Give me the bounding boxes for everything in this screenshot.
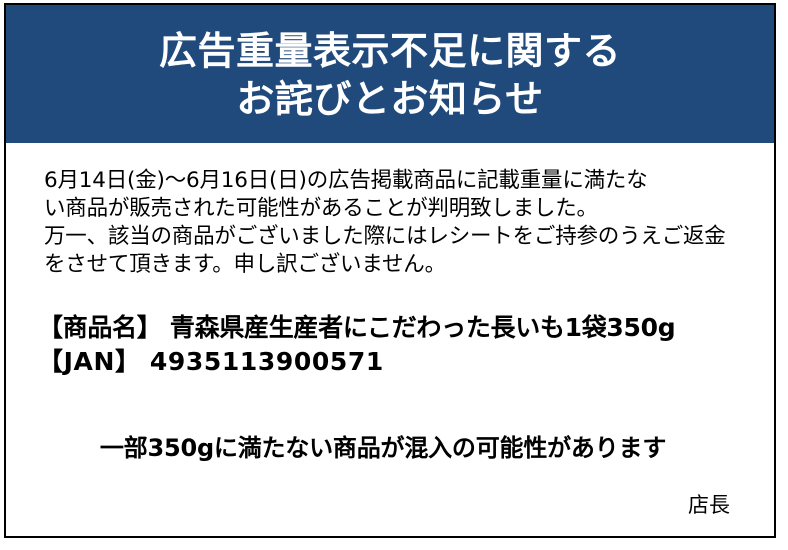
sheet-body: 6月14日(金)〜6月16日(日)の広告掲載商品に記載重量に満たな い商品が販売…: [6, 143, 774, 536]
weight-warning-text: 一部350gに満たない商品が混入の可能性があります: [6, 428, 774, 463]
product-name-label: 【商品名】: [38, 313, 162, 342]
apology-paragraph: 6月14日(金)〜6月16日(日)の広告掲載商品に記載重量に満たな い商品が販売…: [44, 167, 744, 279]
paragraph-line-2: い商品が販売された可能性があることが判明致しました。: [44, 195, 744, 223]
paragraph-line-3: 万一、該当の商品がございました際にはレシートをご持参のうえご返金: [44, 223, 744, 251]
paragraph-line-1: 6月14日(金)〜6月16日(日)の広告掲載商品に記載重量に満たな: [44, 167, 744, 195]
jan-code-label: 【JAN】: [38, 347, 141, 376]
header-title-line-1: 広告重量表示不足に関する: [159, 27, 621, 75]
header-banner: 広告重量表示不足に関する お詫びとお知らせ: [6, 5, 774, 143]
store-manager-signature: 店長: [688, 489, 730, 519]
jan-code-row: 【JAN】 4935113900571: [38, 345, 758, 379]
product-details: 【商品名】 青森県産生産者にこだわった長いも1袋350g 【JAN】 49351…: [38, 311, 758, 379]
jan-code-value: 4935113900571: [150, 347, 384, 376]
paragraph-line-4: をさせて頂きます。申し訳ございません。: [44, 251, 744, 279]
header-title-line-2: お詫びとお知らせ: [236, 75, 543, 123]
product-name-value: 青森県産生産者にこだわった長いも1袋350g: [170, 313, 675, 342]
notice-sheet: 広告重量表示不足に関する お詫びとお知らせ 6月14日(金)〜6月16日(日)の…: [4, 3, 776, 538]
product-name-row: 【商品名】 青森県産生産者にこだわった長いも1袋350g: [38, 311, 758, 345]
